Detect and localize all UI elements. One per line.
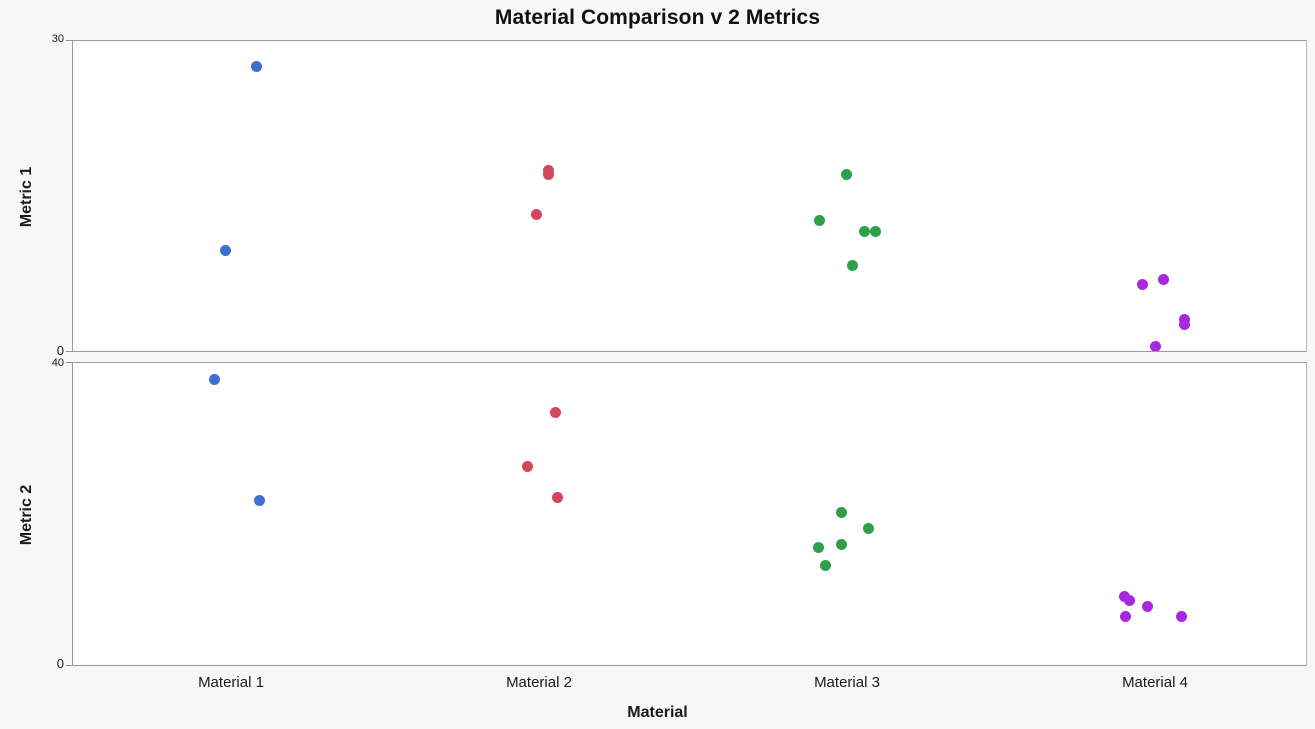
page-title: Material Comparison v 2 Metrics xyxy=(0,6,1315,30)
x-tick-label-2: Material 2 xyxy=(449,674,629,691)
data-point[interactable] xyxy=(522,461,533,472)
data-point[interactable] xyxy=(550,407,561,418)
data-point[interactable] xyxy=(552,492,563,503)
data-point[interactable] xyxy=(209,374,220,385)
plot-panel-metric-2[interactable] xyxy=(72,362,1307,666)
data-point[interactable] xyxy=(859,226,870,237)
data-point[interactable] xyxy=(1120,611,1131,622)
data-point[interactable] xyxy=(220,245,231,256)
data-point[interactable] xyxy=(1176,611,1187,622)
data-point[interactable] xyxy=(251,61,262,72)
data-point[interactable] xyxy=(870,226,881,237)
data-point[interactable] xyxy=(1179,319,1190,330)
data-point[interactable] xyxy=(1158,274,1169,285)
data-point[interactable] xyxy=(863,523,874,534)
data-point[interactable] xyxy=(813,542,824,553)
data-point[interactable] xyxy=(814,215,825,226)
data-point[interactable] xyxy=(1142,601,1153,612)
x-tick-label-4: Material 4 xyxy=(1065,674,1245,691)
data-point[interactable] xyxy=(1137,279,1148,290)
data-point[interactable] xyxy=(543,169,554,180)
data-point[interactable] xyxy=(836,507,847,518)
x-axis-title: Material xyxy=(0,704,1315,722)
x-tick-label-3: Material 3 xyxy=(757,674,937,691)
data-point[interactable] xyxy=(1124,595,1135,606)
y-tick-metric1-max: 30 xyxy=(24,33,64,45)
y-axis-title-metric-1: Metric 1 xyxy=(18,152,36,242)
y-axis-title-metric-2: Metric 2 xyxy=(18,470,36,560)
data-point[interactable] xyxy=(820,560,831,571)
data-point[interactable] xyxy=(254,495,265,506)
y-tick-metric1-min: 0 xyxy=(24,343,64,358)
data-point[interactable] xyxy=(836,539,847,550)
plot-panel-metric-1[interactable] xyxy=(72,40,1307,352)
data-point[interactable] xyxy=(841,169,852,180)
data-point[interactable] xyxy=(847,260,858,271)
data-point[interactable] xyxy=(1150,341,1161,352)
scatter-chart: Material Comparison v 2 Metrics Metric 1… xyxy=(0,0,1315,729)
x-tick-label-1: Material 1 xyxy=(141,674,321,691)
data-point[interactable] xyxy=(531,209,542,220)
y-tick-metric2-max: 40 xyxy=(24,357,64,369)
y-tick-metric2-min: 0 xyxy=(24,656,64,671)
